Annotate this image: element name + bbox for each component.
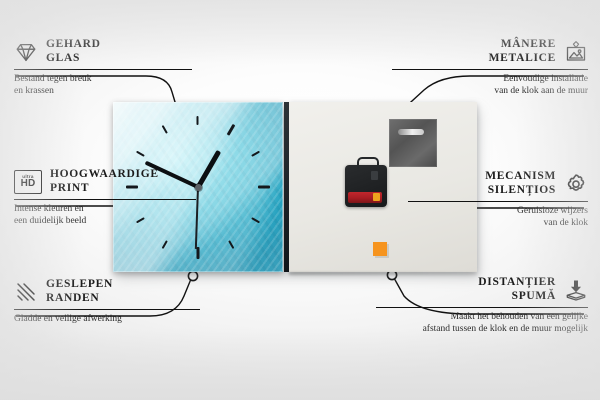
callout-rule (392, 69, 588, 70)
callout-title: MÂNEREMETALICE (489, 38, 556, 65)
ultra-hd-icon: ultra HD (14, 170, 42, 194)
callout-distantier-spuma: DISTANȚIERSPUMĂ Maakt het behouden van e… (376, 276, 588, 335)
battery-terminal (373, 193, 380, 201)
panel-base-shadow (289, 272, 477, 275)
callout-title: MECANISMSILENȚIOS (485, 170, 556, 197)
infographic-canvas: GEHARDGLAS Bestand tegen breuken krassen… (0, 0, 600, 400)
callout-description: Geruisloze wijzersvan de klok (408, 206, 588, 229)
callout-hoogwaardige-print: ultra HD HOOGWAARDIGEPRINT Intense kleur… (14, 168, 196, 227)
diagonal-lines-icon (14, 280, 38, 304)
callout-header: DISTANȚIERSPUMĂ (376, 276, 588, 303)
callout-description: Intense kleuren eneen duidelijk beeld (14, 204, 196, 227)
callout-description: Eenvoudige installatievan de klok aan de… (392, 74, 588, 97)
hanging-loop (357, 157, 379, 169)
callout-rule (408, 201, 588, 202)
callout-rule (376, 307, 588, 308)
battery (348, 192, 382, 203)
callout-geslepen-randen: GESLEPENRANDEN Gladde en veilige afwerki… (14, 278, 200, 326)
callout-mecanism-silentios: MECANISMSILENȚIOS Geruisloze wijzersvan … (408, 170, 588, 229)
callout-header: GESLEPENRANDEN (14, 278, 200, 305)
callout-manere-metalice: MÂNEREMETALICE Eenvoudige installatievan… (392, 38, 588, 97)
callout-header: MECANISMSILENȚIOS (408, 170, 588, 197)
callout-description: Maakt het behouden van een gelijkeafstan… (376, 312, 588, 335)
clock-mechanism (345, 165, 387, 207)
callout-title: GESLEPENRANDEN (46, 278, 113, 305)
callout-header: ultra HD HOOGWAARDIGEPRINT (14, 168, 196, 195)
metal-hanger-plate (389, 119, 437, 167)
callout-description: Bestand tegen breuken krassen (14, 74, 192, 97)
panel-side-edge (284, 102, 289, 272)
callout-rule (14, 309, 200, 310)
diamond-icon (14, 40, 38, 64)
picture-hanger-icon (564, 40, 588, 64)
foam-spacer (373, 242, 387, 256)
ultra-hd-large-text: HD (21, 179, 36, 189)
callout-rule (14, 69, 192, 70)
callout-title: GEHARDGLAS (46, 38, 101, 65)
callout-gehard-glas: GEHARDGLAS Bestand tegen breuken krassen (14, 38, 192, 97)
callout-title: HOOGWAARDIGEPRINT (50, 168, 159, 195)
gear-icon (564, 172, 588, 196)
callout-header: MÂNEREMETALICE (392, 38, 588, 65)
callout-description: Gladde en veilige afwerking (14, 314, 200, 326)
mechanism-shaft (371, 171, 378, 180)
callout-title: DISTANȚIERSPUMĂ (478, 276, 556, 303)
spacer-arrow-icon (564, 278, 588, 302)
callout-header: GEHARDGLAS (14, 38, 192, 65)
hanger-slot (398, 129, 424, 135)
callout-rule (14, 199, 196, 200)
